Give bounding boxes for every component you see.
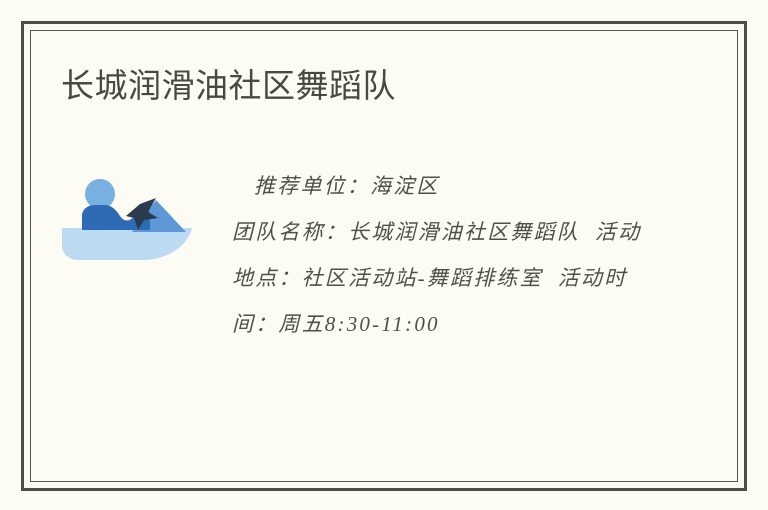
team-name-label: 团队名称： [232,220,348,244]
dancer-boat-illustration [60,172,206,266]
location-value: 社区活动站-舞蹈排练室 [302,266,543,290]
recommend-unit-label: 推荐单位： [254,174,370,198]
page-root: 长城润滑油社区舞蹈队 推荐单位：海淀区 团队名称：长城润滑油社区舞蹈队 活动地点… [0,0,768,510]
team-name-value: 长城润滑油社区舞蹈队 [348,220,580,244]
activity-details-text: 推荐单位：海淀区 团队名称：长城润滑油社区舞蹈队 活动地点：社区活动站-舞蹈排练… [232,163,650,347]
recommend-unit-value: 海淀区 [370,174,440,198]
page-title: 长城润滑油社区舞蹈队 [61,64,396,108]
time-value: 周五8:30-11:00 [278,312,439,336]
